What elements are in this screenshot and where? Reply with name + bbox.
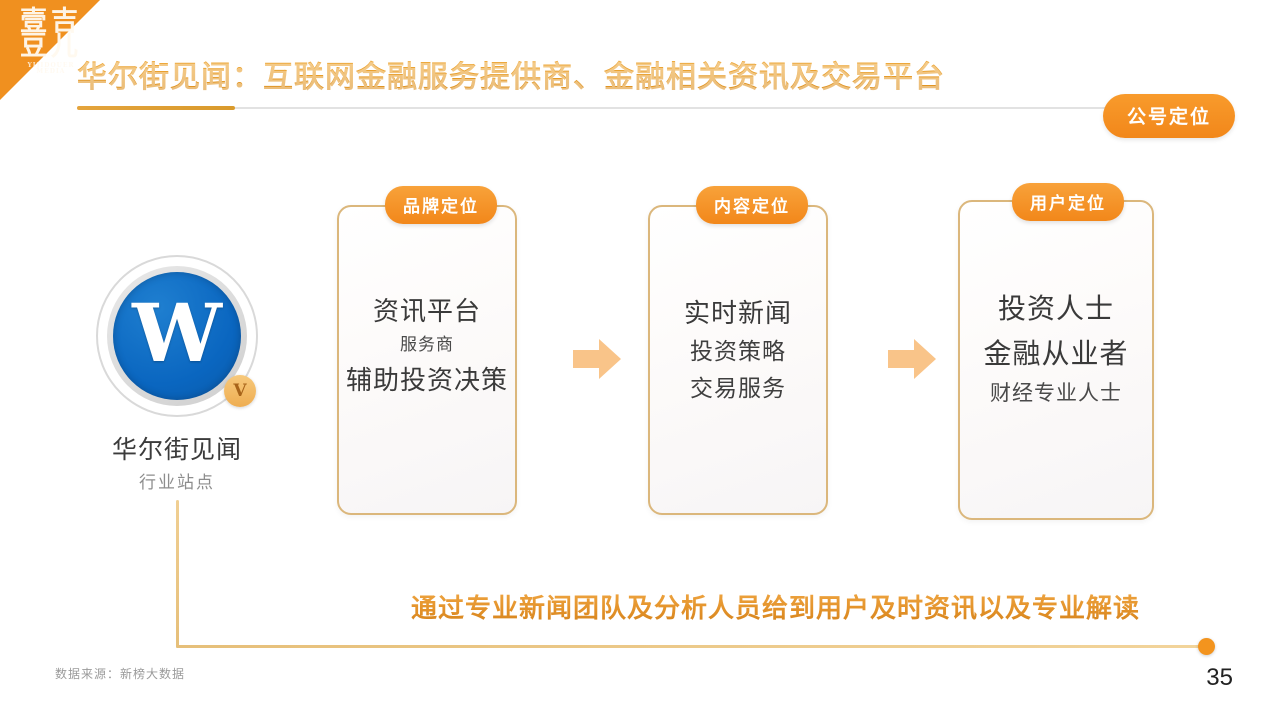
avatar-letter: W [113,272,241,400]
connector-line-horizontal [176,645,1206,648]
title-underline-gray [235,107,1230,109]
card-content-body: 实时新闻 投资策略 交易服务 [650,293,826,407]
account-avatar: W V [96,255,258,417]
card-tag-content: 内容定位 [696,186,808,224]
card-tag-user: 用户定位 [1012,183,1124,221]
card-content-line-2: 投资策略 [690,333,786,370]
summary-caption: 通过专业新闻团队及分析人员给到用户及时资讯以及专业解读 [411,588,1140,625]
page-number: 35 [1206,664,1233,692]
card-user-body: 投资人士 金融从业者 财经专业人士 [960,286,1152,410]
arrow-right-icon-1 [571,336,623,382]
card-user-line-2: 金融从业者 [983,331,1128,376]
card-brand-positioning: 资讯平台 服务商 辅助投资决策 [337,205,517,515]
section-badge: 公号定位 [1103,94,1235,138]
slide-canvas: 壹吉 豆儿 YIJIDOUER MEDIA 华尔街见闻：互联网金融服务提供商、金… [0,0,1280,720]
data-source-note: 数据来源：新榜大数据 [55,665,185,682]
account-subtitle: 行业站点 [60,468,294,493]
card-user-positioning: 投资人士 金融从业者 财经专业人士 [958,200,1154,520]
card-brand-line-1: 资讯平台 [373,291,481,331]
card-content-line-3: 交易服务 [690,370,786,407]
card-brand-line-3: 辅助投资决策 [346,360,508,400]
title-underline-gold [77,106,235,110]
verified-badge-icon: V [224,375,256,407]
slide-title: 华尔街见闻：互联网金融服务提供商、金融相关资讯及交易平台 [77,52,945,96]
card-tag-brand: 品牌定位 [385,186,497,224]
connector-end-dot [1198,638,1215,655]
card-content-line-1: 实时新闻 [684,293,792,333]
arrow-right-icon-2 [886,336,938,382]
connector-line-vertical [176,500,179,648]
account-name: 华尔街见闻 [60,430,294,466]
card-user-line-3: 财经专业人士 [990,377,1122,411]
card-brand-line-2: 服务商 [400,331,454,360]
avatar-disc: W [113,272,241,400]
card-user-line-1: 投资人士 [998,286,1114,331]
card-brand-body: 资讯平台 服务商 辅助投资决策 [339,291,515,400]
card-content-positioning: 实时新闻 投资策略 交易服务 [648,205,828,515]
